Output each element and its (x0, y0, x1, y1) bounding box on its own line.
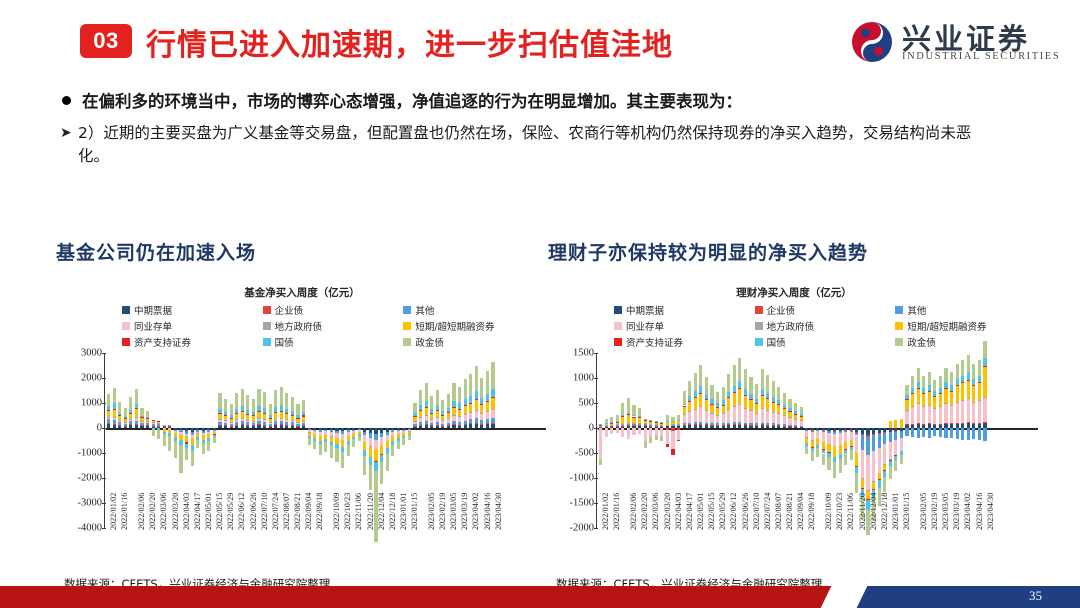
bar-segment (933, 391, 936, 396)
bullet-dot-icon (62, 96, 71, 105)
bar-segment (296, 404, 299, 415)
bar-segment (783, 405, 786, 409)
bar-segment (475, 366, 478, 391)
bar-segment (230, 404, 233, 415)
bar-segment (627, 398, 630, 413)
bar-segment (772, 402, 775, 403)
bar-segment (491, 397, 494, 398)
bar-segment (341, 440, 344, 447)
bar-segment (722, 405, 725, 413)
bar-segment (911, 388, 914, 393)
x-axis-tick-label: 2022/04/17 (685, 493, 694, 530)
bar-segment (744, 425, 747, 428)
bar-segment (152, 424, 155, 426)
bar-segment (491, 423, 494, 428)
bar-segment (917, 389, 920, 404)
bar-segment (727, 397, 730, 398)
bar-segment (733, 407, 736, 423)
bar-segment (683, 423, 686, 425)
bar-segment (772, 412, 775, 424)
bar-segment (783, 415, 786, 416)
bar-segment (950, 423, 953, 424)
x-axis-tick-label: 2022/12/04 (869, 493, 878, 530)
chart-title: 理财净买入周度（亿元） (548, 285, 1040, 300)
bar-segment (475, 410, 478, 411)
bar-segment (733, 406, 736, 407)
bar-segment (922, 388, 925, 393)
bar-segment (452, 415, 455, 416)
bar-segment (727, 374, 730, 392)
bar-segment (655, 435, 658, 440)
bar-segment (107, 410, 110, 411)
bar-segment (380, 455, 383, 462)
bar-segment (677, 421, 680, 424)
bar-segment (135, 408, 138, 416)
bar-segment (688, 423, 691, 425)
bar-segment (905, 410, 908, 411)
bar-segment (777, 424, 780, 425)
bar-segment (944, 403, 947, 404)
legend-item: 短期/超短期融资券 (895, 319, 1036, 333)
x-axis-tick-label: 2022/03/06 (159, 493, 168, 530)
bar-segment (922, 394, 925, 407)
bar-segment (168, 425, 171, 426)
bar-segment (627, 413, 630, 414)
bar-segment (660, 422, 663, 423)
bar-segment (761, 424, 764, 425)
legend-item: 中期票据 (122, 303, 263, 317)
x-axis-tick-label: 2022/11/20 (366, 493, 375, 530)
x-axis-tick-label: 2023/04/16 (483, 493, 492, 530)
bar-segment (956, 385, 959, 386)
bar-segment (475, 410, 478, 418)
bar-segment (447, 423, 450, 426)
bullet-primary-text: 在偏利多的环境当中，市场的博弈心态增强，净值追逐的行为在明显增加。其主要表现为： (82, 92, 742, 111)
bar-segment (347, 445, 350, 457)
bar-segment (933, 380, 936, 391)
bar-segment (168, 436, 171, 451)
legend-item: 资产支持证券 (122, 335, 263, 349)
x-axis-tick-label: 2022/10/09 (824, 493, 833, 530)
y-axis-tick-label: 0 (589, 423, 594, 434)
bar-segment (425, 415, 428, 421)
bar-segment (722, 413, 725, 414)
bar-segment (196, 440, 199, 448)
bar-segment (252, 399, 255, 412)
bar-segment (129, 410, 132, 413)
bar-segment (766, 393, 769, 399)
bar-segment (733, 386, 736, 393)
bar-segment (900, 438, 903, 451)
bar-segment (794, 403, 797, 411)
bar-segment (683, 404, 686, 405)
bar-segment (152, 426, 155, 427)
bar-segment (671, 431, 674, 449)
slide-header: 03 行情已进入加速期，进一步扫估值洼地 兴业证券 INDUSTRIAL SEC… (0, 0, 1080, 82)
bar-segment (610, 417, 613, 422)
bar-segment (419, 425, 422, 426)
x-axis-tick-label: 2023/01/15 (902, 493, 911, 530)
bar-segment (699, 365, 702, 386)
bar-segment (486, 401, 489, 402)
bar-segment (644, 441, 647, 449)
bar-segment (894, 460, 897, 471)
bar-segment (152, 429, 155, 435)
bar-segment (755, 384, 758, 399)
bar-segment (124, 408, 127, 416)
bar-segment (677, 440, 680, 442)
bar-segment (330, 445, 333, 457)
bar-segment (616, 426, 619, 427)
bar-segment (933, 428, 936, 436)
bar-segment (649, 437, 652, 443)
bar-segment (794, 419, 797, 420)
bar-segment (649, 424, 652, 425)
bar-segment (252, 421, 255, 422)
y-axis-tick-label: -1000 (78, 448, 103, 459)
bar-segment (419, 405, 422, 410)
bar-segment (783, 393, 786, 405)
bar-segment (827, 444, 830, 452)
bar-segment (402, 438, 405, 445)
bar-segment (441, 426, 444, 427)
y-axis-tick-label: -4000 (78, 523, 103, 534)
bar-segment (677, 424, 680, 425)
bar-segment (436, 390, 439, 406)
bar-segment (341, 452, 344, 468)
bar-segment (616, 428, 619, 433)
bar-segment (107, 410, 110, 417)
bar-segment (480, 404, 483, 405)
bar-segment (269, 415, 272, 418)
bar-segment (655, 421, 658, 422)
bar-segment (425, 415, 428, 416)
bar-segment (480, 378, 483, 398)
bar-segment (694, 409, 697, 422)
bar-segment (727, 423, 730, 425)
bar-segment (705, 410, 708, 411)
bar-segment (263, 422, 266, 425)
bar-segment (230, 415, 233, 418)
bar-segment (441, 415, 444, 416)
bar-segment (911, 393, 914, 394)
bar-segment (230, 424, 233, 426)
bar-segment (749, 423, 752, 425)
bar-segment (777, 405, 780, 414)
legend-swatch-icon (122, 306, 130, 314)
x-axis-tick-label: 2022/11/20 (858, 493, 867, 530)
bar-segment (285, 425, 288, 426)
chart-panel-heading: 基金公司仍在加速入场 (56, 238, 548, 265)
y-axis-tick-label: 2000 (81, 373, 102, 384)
bar-segment (972, 385, 975, 386)
bar-segment (822, 442, 825, 449)
bar-segment (118, 415, 121, 416)
bar-segment (683, 414, 686, 415)
bar-segment (983, 397, 986, 422)
bar-segment (263, 392, 266, 408)
bar-segment (146, 411, 149, 417)
bar-segment (950, 391, 953, 405)
bar-segment (464, 379, 467, 399)
bar-segment (280, 411, 283, 412)
bar-segment (722, 423, 725, 425)
bullet-secondary-text: 2）近期的主要买盘为广义基金等交易盘，但配置盘也仍然在场，保险、农商行等机构仍然… (78, 124, 971, 165)
x-axis-tick-label: 2022/12/04 (377, 493, 386, 530)
bar-segment (894, 420, 897, 428)
bar-segment (302, 412, 305, 416)
bar-segment (972, 402, 975, 423)
bar-segment (816, 448, 819, 457)
legend-label: 地方政府债 (275, 319, 323, 333)
bar-segment (486, 419, 489, 423)
y-axis-tick-label: 1000 (81, 398, 102, 409)
bar-segment (716, 403, 719, 407)
bar-segment (441, 420, 444, 421)
bar-segment (146, 421, 149, 422)
bar-segment (710, 404, 713, 405)
bar-segment (135, 421, 138, 424)
legend-swatch-icon (755, 306, 763, 314)
legend-item: 国债 (755, 335, 896, 349)
x-axis-tick-label: 2022/10/23 (343, 493, 352, 530)
bar-segment (291, 415, 294, 416)
bar-segment (218, 422, 221, 425)
bar-segment (475, 423, 478, 428)
bar-segment (436, 417, 439, 418)
legend-swatch-icon (895, 322, 903, 330)
bar-segment (972, 379, 975, 385)
bar-segment (961, 376, 964, 383)
bar-segment (710, 425, 713, 428)
bar-segment (694, 425, 697, 428)
bar-segment (632, 425, 635, 426)
bar-segment (939, 394, 942, 407)
bar-segment (491, 409, 494, 410)
bar-segment (632, 428, 635, 435)
bar-segment (475, 418, 478, 423)
bar-segment (727, 392, 730, 398)
bar-segment (140, 408, 143, 416)
bar-segment (956, 402, 959, 403)
bar-segment (118, 422, 121, 425)
bar-segment (978, 360, 981, 376)
bar-segment (922, 406, 925, 407)
bar-segment (464, 399, 467, 405)
bar-segment (436, 422, 439, 425)
x-axis-tick-label: 2023/01/01 (399, 493, 408, 530)
bar-segment (917, 382, 920, 388)
x-axis-tick-label: 2022/06/26 (249, 493, 258, 530)
bar-segment (683, 425, 686, 426)
bar-segment (671, 422, 674, 424)
bar-segment (710, 425, 713, 426)
bar-segment (744, 369, 747, 389)
bar-segment (878, 480, 881, 488)
bar-segment (644, 425, 647, 426)
bar-segment (649, 421, 652, 422)
bar-segment (425, 407, 428, 408)
bar-segment (755, 413, 758, 424)
bar-segment (118, 420, 121, 421)
bar-segment (152, 420, 155, 421)
bar-segment (649, 428, 652, 437)
bar-segment (666, 421, 669, 422)
x-axis-tick-label: 2022/10/23 (835, 493, 844, 530)
bar-segment (627, 414, 630, 423)
bar-segment (627, 423, 630, 424)
bar-segment (861, 450, 864, 478)
bar-segment (866, 437, 869, 456)
bar-segment (749, 410, 752, 411)
bar-segment (889, 442, 892, 460)
bar-segment (285, 422, 288, 425)
bar-segment (755, 404, 758, 413)
bar-segment (705, 394, 708, 400)
legend-label: 其他 (907, 303, 926, 317)
bar-segment (939, 424, 942, 425)
bar-segment (772, 425, 775, 426)
x-axis-tick-label: 2022/01/16 (120, 493, 129, 530)
bar-segment (688, 381, 691, 397)
bar-segment (983, 366, 986, 367)
chart-panel-fund: 基金公司仍在加速入场 基金净买入周度（亿元） 中期票据企业债其他同业存单地方政府… (56, 238, 548, 590)
bar-segment (621, 428, 624, 437)
bar-segment (464, 414, 467, 421)
bar-segment (241, 406, 244, 411)
bar-segment (430, 423, 433, 425)
y-axis-tick-label: 3000 (81, 348, 102, 359)
bar-segment (369, 457, 372, 465)
bar-segment (983, 422, 986, 423)
bar-segment (978, 423, 981, 424)
bar-segment (179, 445, 182, 474)
bar-segment (716, 415, 719, 416)
x-axis-tick-label: 2022/12/18 (880, 493, 889, 530)
bar-segment (335, 448, 338, 462)
bar-segment (983, 367, 986, 397)
bar-segment (944, 423, 947, 424)
bar-segment (486, 423, 489, 424)
bar-segment (911, 428, 914, 437)
bar-segment (794, 411, 797, 414)
bar-segment (425, 424, 428, 425)
bar-segment (129, 397, 132, 410)
bar-segment (491, 409, 494, 418)
bar-segment (738, 404, 741, 405)
bar-segment (430, 413, 433, 414)
legend-swatch-icon (895, 338, 903, 346)
bar-segment (413, 413, 416, 416)
bar-segment (163, 434, 166, 445)
bar-segment (972, 423, 975, 424)
bar-segment (766, 399, 769, 410)
bar-segment (621, 424, 624, 425)
bar-segment (805, 446, 808, 454)
bar-segment (917, 423, 920, 424)
bar-segment (961, 401, 964, 423)
bar-segment (257, 421, 260, 424)
bar-segment (129, 424, 132, 425)
bar-segment (688, 401, 691, 402)
bar-segment (146, 418, 149, 419)
bar-segment (302, 417, 305, 422)
bar-segment (972, 364, 975, 379)
bar-segment (430, 396, 433, 409)
bar-segment (933, 424, 936, 425)
bar-segment (666, 425, 669, 426)
bar-segment (191, 438, 194, 445)
bar-segment (666, 415, 669, 421)
bar-segment (761, 408, 764, 409)
bar-segment (677, 415, 680, 421)
bar-segment (230, 418, 233, 419)
legend-item: 国债 (263, 335, 404, 349)
bar-segment (928, 405, 931, 423)
bar-segment (794, 425, 797, 426)
bar-segment (218, 425, 221, 426)
bar-segment (705, 424, 708, 425)
bar-segment (978, 401, 981, 423)
bar-segment (733, 425, 736, 428)
bar-segment (911, 376, 914, 388)
bar-segment (772, 397, 775, 402)
bar-segment (967, 422, 970, 423)
x-axis-tick-label: 2022/05/29 (226, 493, 235, 530)
legend-item: 同业存单 (614, 319, 755, 333)
bar-segment (107, 417, 110, 418)
bar-segment (263, 413, 266, 414)
bar-segment (458, 403, 461, 408)
bar-segment (900, 419, 903, 428)
bar-segment (666, 422, 669, 425)
bar-segment (386, 454, 389, 471)
bar-segment (716, 408, 719, 415)
x-axis-tick-label: 2023/01/01 (891, 493, 900, 530)
bar-segment (230, 426, 233, 427)
bar-segment (694, 397, 697, 398)
bar-segment (644, 428, 647, 441)
bar-segment (788, 426, 791, 427)
bar-segment (291, 397, 294, 411)
bar-segment (632, 405, 635, 415)
bar-segment (755, 413, 758, 414)
legend-item: 资产支持证券 (614, 335, 755, 349)
legend-label: 地方政府债 (767, 319, 815, 333)
bar-segment (889, 466, 892, 479)
table-row (911, 353, 914, 528)
bar-segment (677, 420, 680, 421)
bar-segment (202, 443, 205, 454)
x-axis-tick-label: 2022/09/04 (304, 493, 313, 530)
bar-segment (218, 413, 221, 414)
bar-segment (928, 405, 931, 406)
bar-segment (644, 423, 647, 424)
bar-segment (800, 420, 803, 421)
bar-segment (257, 424, 260, 425)
bar-segment (922, 428, 925, 437)
bar-segment (452, 407, 455, 408)
bar-segment (666, 430, 669, 444)
bar-segment (822, 432, 825, 442)
bar-segment (699, 393, 702, 394)
x-axis-tick-label: 2022/07/24 (763, 493, 772, 530)
bar-segment (777, 387, 780, 401)
x-axis-tick-label: 2023/03/05 (941, 493, 950, 530)
bar-segment (605, 428, 608, 437)
bar-segment (967, 372, 970, 379)
bar-segment (616, 415, 619, 421)
